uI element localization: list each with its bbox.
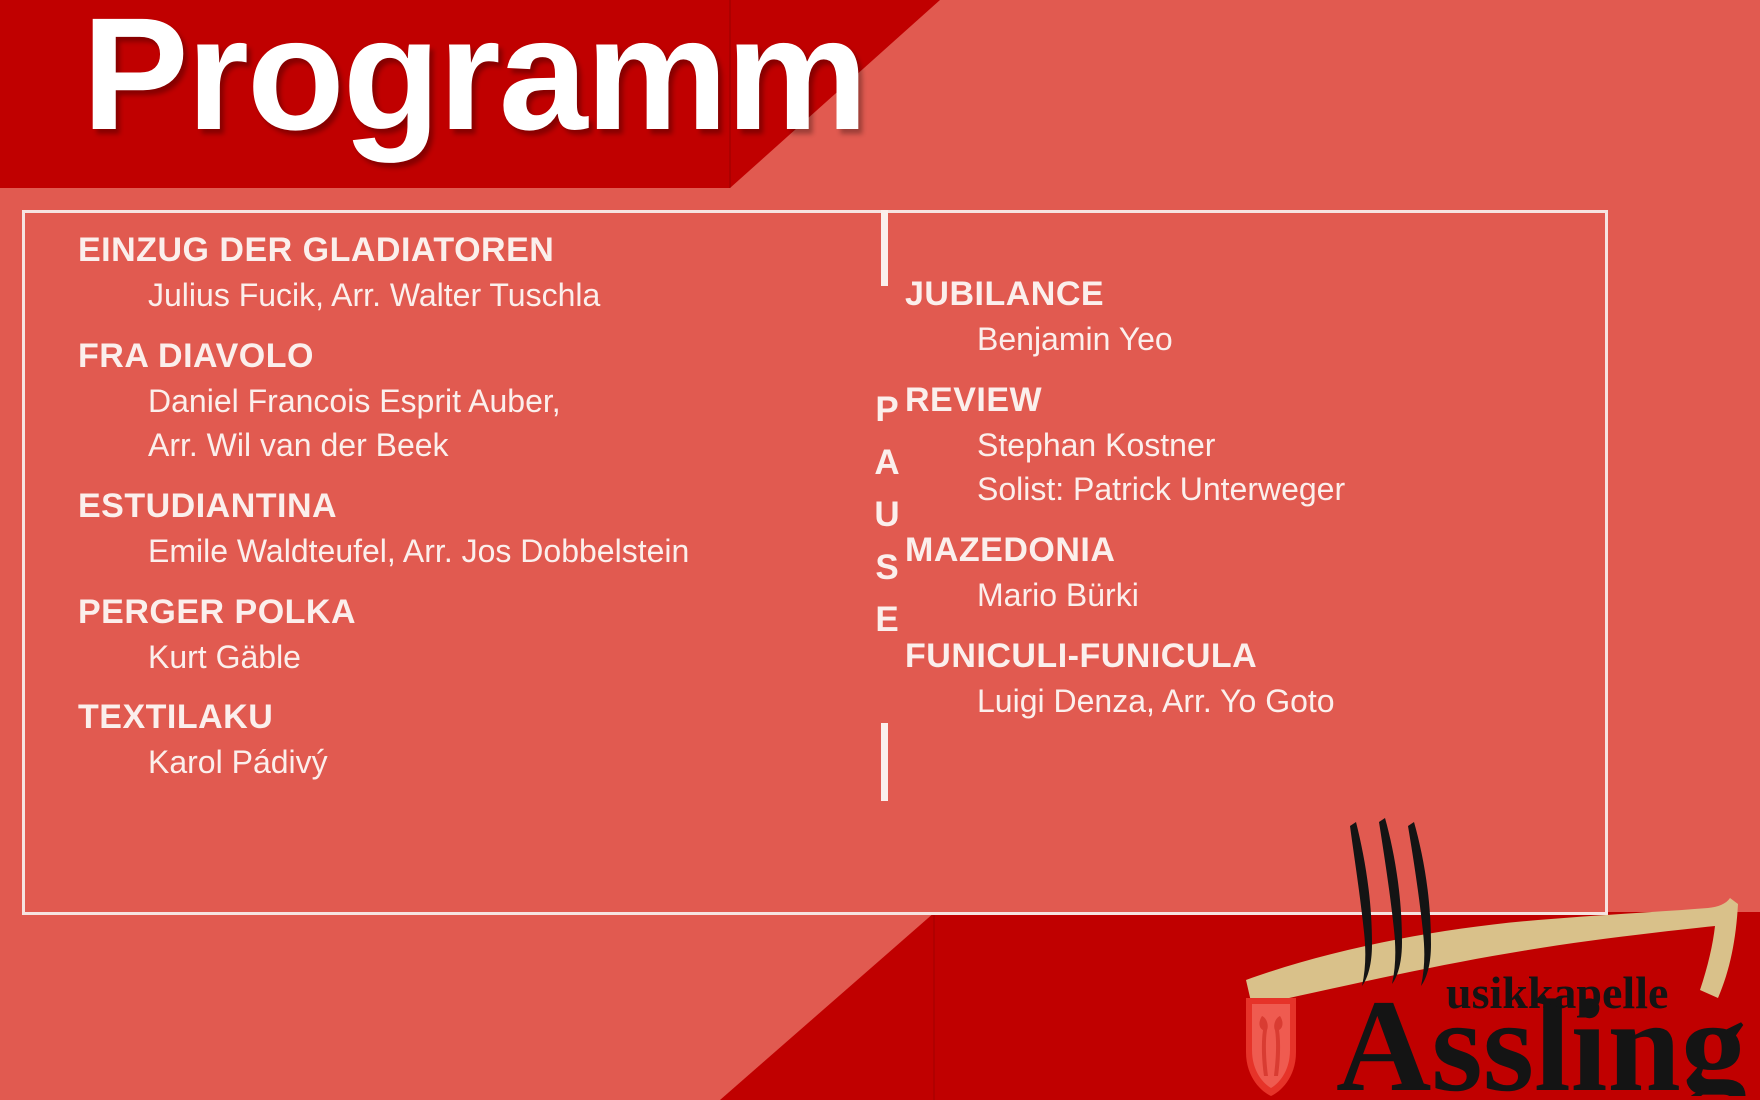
credit-line: Arr. Wil van der Beek — [148, 423, 778, 468]
credit-line: Mario Bürki — [977, 573, 1585, 618]
piece-title: TEXTILAKU — [78, 695, 778, 740]
pause-letter: E — [866, 594, 908, 647]
pause-letter: A — [866, 437, 908, 490]
pause-letter: P — [866, 384, 908, 437]
credit-line: Stephan Kostner — [977, 423, 1585, 468]
pause-label: P A U S E — [866, 384, 908, 647]
piece-title: REVIEW — [905, 378, 1585, 423]
program-column-left: EINZUG DER GLADIATOREN Julius Fucik, Arr… — [78, 228, 778, 785]
piece-credits: Kurt Gäble — [78, 635, 778, 680]
program-item: EINZUG DER GLADIATOREN Julius Fucik, Arr… — [78, 228, 778, 318]
program-item: PERGER POLKA Kurt Gäble — [78, 590, 778, 680]
credit-line: Kurt Gäble — [148, 635, 778, 680]
program-item: REVIEW Stephan Kostner Solist: Patrick U… — [905, 378, 1585, 512]
piece-title: FRA DIAVOLO — [78, 334, 778, 379]
piece-credits: Emile Waldteufel, Arr. Jos Dobbelstein — [78, 529, 778, 574]
piece-credits: Stephan Kostner Solist: Patrick Unterweg… — [905, 423, 1585, 513]
piece-title: EINZUG DER GLADIATOREN — [78, 228, 778, 273]
piece-title: MAZEDONIA — [905, 528, 1585, 573]
pause-divider: P A U S E — [866, 210, 908, 790]
piece-title: ESTUDIANTINA — [78, 484, 778, 529]
piece-credits: Julius Fucik, Arr. Walter Tuschla — [78, 273, 778, 318]
program-item: JUBILANCE Benjamin Yeo — [905, 272, 1585, 362]
pause-rule-bottom — [881, 723, 888, 801]
piece-title: PERGER POLKA — [78, 590, 778, 635]
musikkapelle-assling-logo: Assling usikkapelle — [1238, 800, 1748, 1096]
credit-line: Benjamin Yeo — [977, 317, 1585, 362]
credit-line: Daniel Francois Esprit Auber, — [148, 379, 778, 424]
piece-title: FUNICULI-FUNICULA — [905, 634, 1585, 679]
credit-line: Emile Waldteufel, Arr. Jos Dobbelstein — [148, 529, 778, 574]
piece-credits: Benjamin Yeo — [905, 317, 1585, 362]
pause-letter: U — [866, 489, 908, 542]
program-item: FUNICULI-FUNICULA Luigi Denza, Arr. Yo G… — [905, 634, 1585, 724]
footer-band-seam — [933, 912, 935, 1100]
program-column-right: JUBILANCE Benjamin Yeo REVIEW Stephan Ko… — [905, 272, 1585, 723]
credit-line: Julius Fucik, Arr. Walter Tuschla — [148, 273, 778, 318]
pause-letter: S — [866, 542, 908, 595]
credit-line: Karol Pádivý — [148, 740, 778, 785]
page-title: Programm — [82, 0, 866, 154]
logo-wordmark-small: usikkapelle — [1446, 967, 1668, 1018]
credit-line: Solist: Patrick Unterweger — [977, 467, 1585, 512]
piece-credits: Mario Bürki — [905, 573, 1585, 618]
program-item: ESTUDIANTINA Emile Waldteufel, Arr. Jos … — [78, 484, 778, 574]
piece-credits: Daniel Francois Esprit Auber, Arr. Wil v… — [78, 379, 778, 469]
program-item: MAZEDONIA Mario Bürki — [905, 528, 1585, 618]
program-item: FRA DIAVOLO Daniel Francois Esprit Auber… — [78, 334, 778, 468]
credit-line: Luigi Denza, Arr. Yo Goto — [977, 679, 1585, 724]
program-item: TEXTILAKU Karol Pádivý — [78, 695, 778, 785]
piece-credits: Luigi Denza, Arr. Yo Goto — [905, 679, 1585, 724]
piece-credits: Karol Pádivý — [78, 740, 778, 785]
pause-rule-top — [881, 210, 888, 286]
program-slide: Programm EINZUG DER GLADIATOREN Julius F… — [0, 0, 1760, 1100]
piece-title: JUBILANCE — [905, 272, 1585, 317]
